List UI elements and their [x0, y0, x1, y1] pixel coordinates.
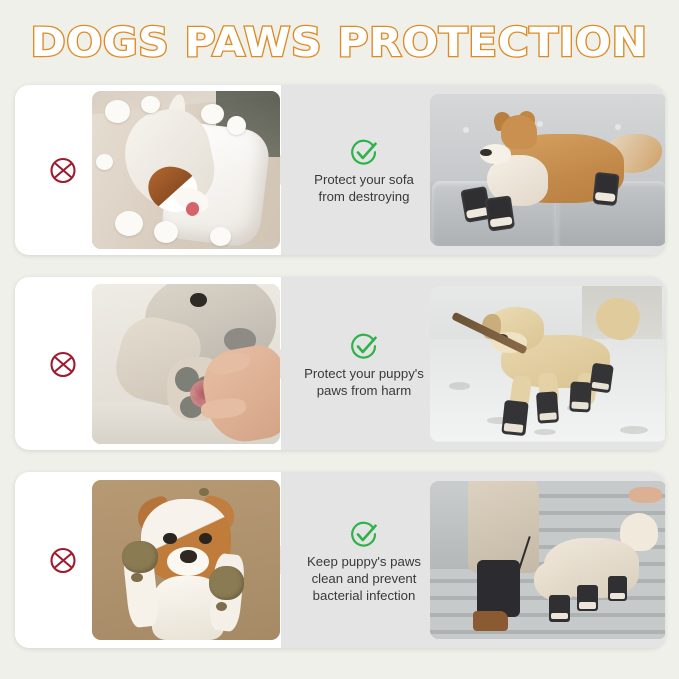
cross-circle-icon	[46, 347, 80, 381]
row-3-after-photo	[430, 481, 665, 639]
row-3-before-photo	[92, 480, 280, 640]
row-3-center-block: Keep puppy's paws clean and prevent bact…	[298, 472, 430, 648]
comparison-row-1: Protect your sofa from destroying	[15, 85, 665, 255]
row-2-before-photo	[92, 284, 280, 444]
row-2-after-photo	[430, 286, 665, 442]
row-1-caption: Protect your sofa from destroying	[314, 171, 414, 205]
row-1-before-photo	[92, 91, 280, 249]
infographic-page: DOGS PAWS PROTECTION	[0, 0, 679, 679]
row-3-caption: Keep puppy's paws clean and prevent bact…	[307, 553, 421, 604]
page-title-container: DOGS PAWS PROTECTION	[0, 14, 679, 72]
cross-circle-icon	[46, 543, 80, 577]
check-circle-icon	[347, 329, 381, 363]
row-2-center-block: Protect your puppy's paws from harm	[298, 277, 430, 450]
page-title: DOGS PAWS PROTECTION	[31, 20, 648, 66]
cross-circle-icon	[46, 153, 80, 187]
row-2-caption: Protect your puppy's paws from harm	[304, 365, 424, 399]
check-circle-icon	[347, 135, 381, 169]
row-1-center-block: Protect your sofa from destroying	[298, 85, 430, 255]
check-circle-icon	[347, 517, 381, 551]
comparison-row-2: Protect your puppy's paws from harm	[15, 277, 665, 450]
row-1-after-photo	[430, 94, 665, 246]
comparison-row-3: Keep puppy's paws clean and prevent bact…	[15, 472, 665, 648]
